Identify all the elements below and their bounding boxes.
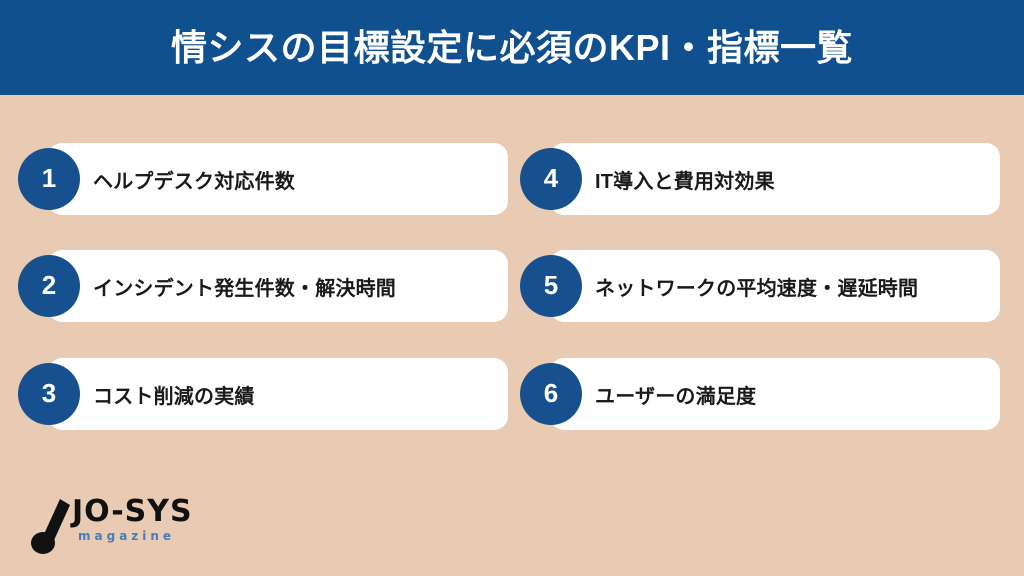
- logo-subtitle: magazine: [78, 530, 175, 542]
- page-title: 情シスの目標設定に必須のKPI・指標一覧: [171, 30, 853, 66]
- kpi-number: 4: [544, 165, 558, 191]
- kpi-item-3: 3 コスト削減の実績: [18, 358, 508, 430]
- kpi-number: 5: [544, 272, 558, 298]
- kpi-label: ユーザーの満足度: [595, 358, 756, 430]
- kpi-number: 2: [42, 272, 56, 298]
- header-band: 情シスの目標設定に必須のKPI・指標一覧: [0, 0, 1024, 95]
- kpi-label: インシデント発生件数・解決時間: [93, 250, 396, 322]
- kpi-item-5: 5 ネットワークの平均速度・遅延時間: [520, 250, 1000, 322]
- kpi-number: 1: [42, 165, 56, 191]
- kpi-item-2: 2 インシデント発生件数・解決時間: [18, 250, 508, 322]
- kpi-label: IT導入と費用対効果: [595, 143, 775, 215]
- kpi-item-6: 6 ユーザーの満足度: [520, 358, 1000, 430]
- kpi-item-4: 4 IT導入と費用対効果: [520, 143, 1000, 215]
- kpi-label: ネットワークの平均速度・遅延時間: [595, 250, 918, 322]
- music-note-icon: [30, 497, 74, 555]
- kpi-number-badge: 4: [520, 148, 582, 210]
- kpi-number: 3: [42, 380, 56, 406]
- kpi-number-badge: 1: [18, 148, 80, 210]
- kpi-number-badge: 5: [520, 255, 582, 317]
- kpi-list: 1 ヘルプデスク対応件数 2 インシデント発生件数・解決時間 3 コスト削減の実…: [0, 95, 1024, 480]
- kpi-number-badge: 2: [18, 255, 80, 317]
- kpi-label: コスト削減の実績: [93, 358, 255, 430]
- kpi-item-1: 1 ヘルプデスク対応件数: [18, 143, 508, 215]
- logo-wordmark: JO-SYS: [72, 497, 193, 527]
- kpi-number-badge: 6: [520, 363, 582, 425]
- kpi-number-badge: 3: [18, 363, 80, 425]
- kpi-label: ヘルプデスク対応件数: [93, 143, 295, 215]
- kpi-number: 6: [544, 380, 558, 406]
- brand-logo: JO-SYS magazine: [30, 495, 200, 557]
- slide-canvas: 情シスの目標設定に必須のKPI・指標一覧 1 ヘルプデスク対応件数 2 インシデ…: [0, 0, 1024, 576]
